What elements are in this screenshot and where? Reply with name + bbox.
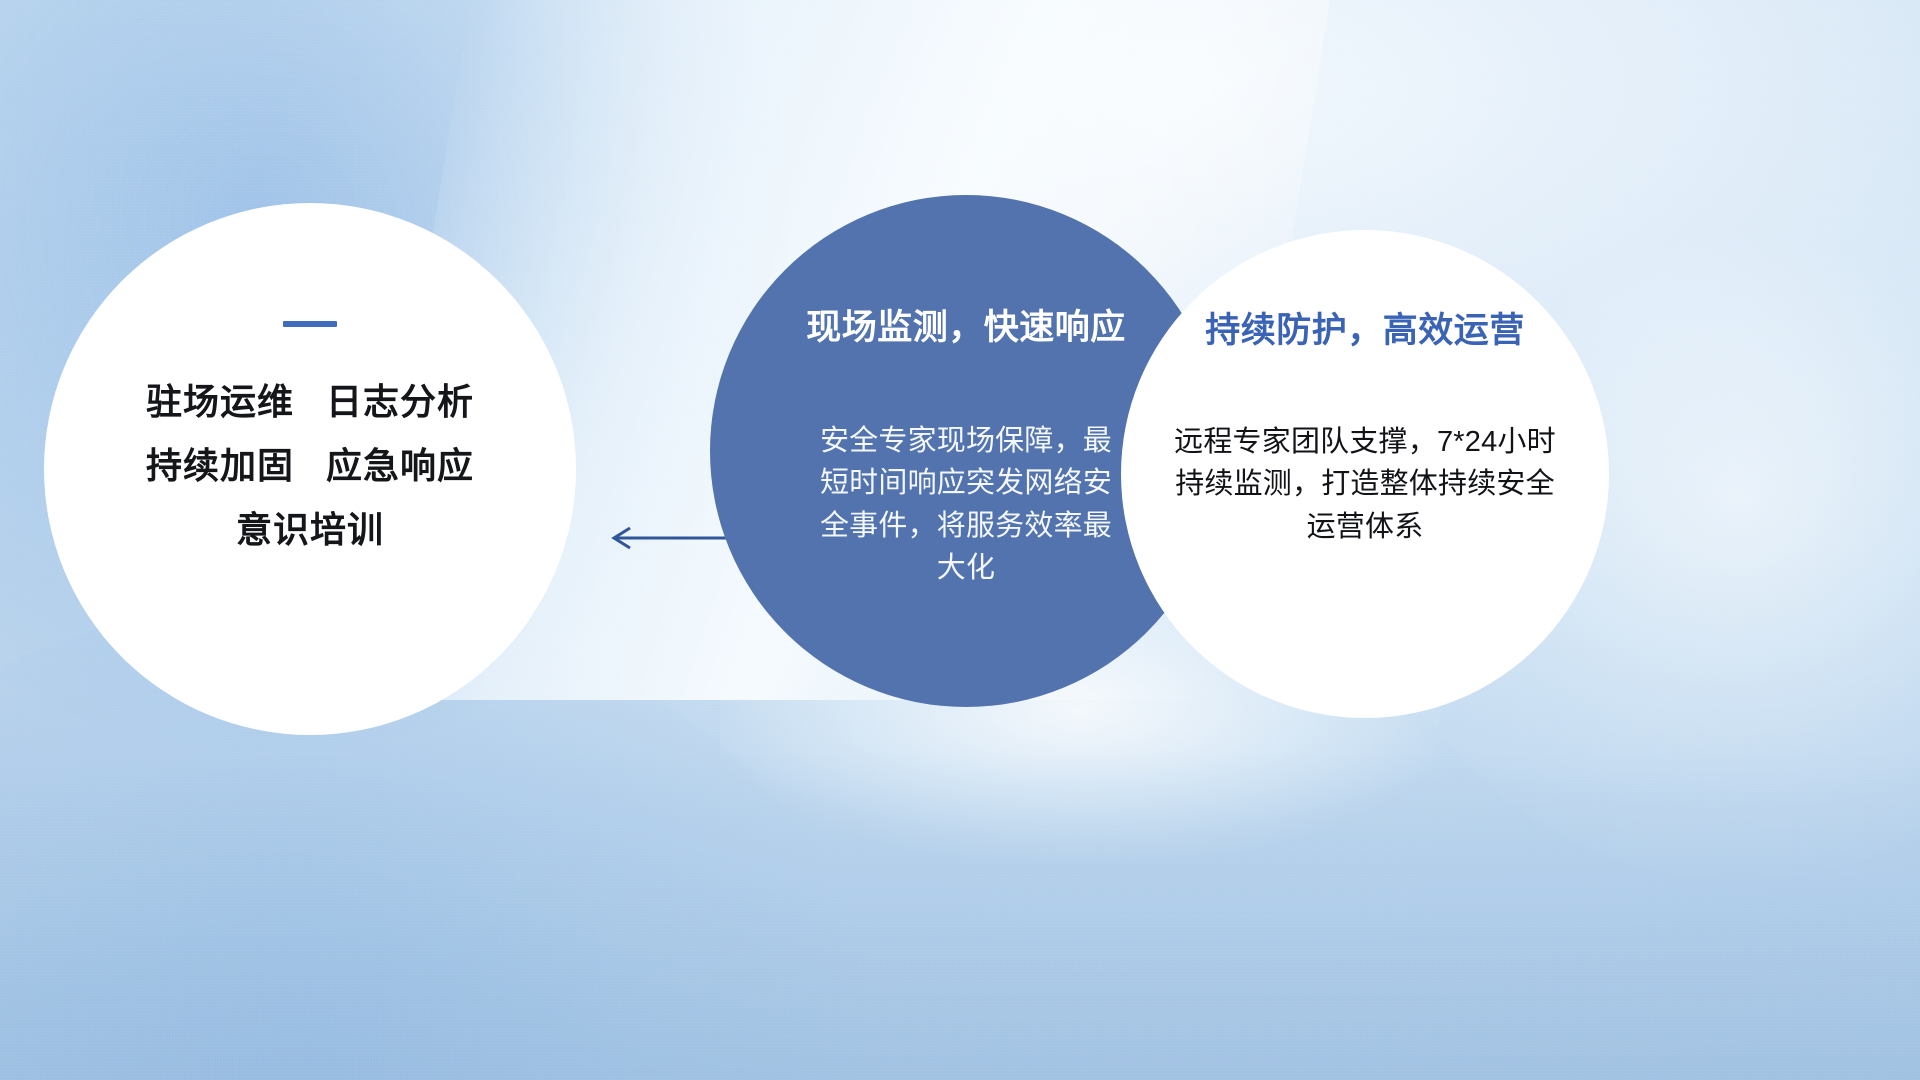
capability-tag: 应急响应 <box>326 447 474 485</box>
capability-tag-row: 驻场运维 日志分析 <box>146 383 474 421</box>
capability-tag-list: 驻场运维 日志分析 持续加固 应急响应 意识培训 <box>44 383 576 548</box>
capability-tag: 持续加固 <box>146 447 294 485</box>
capability-tag: 意识培训 <box>236 511 384 549</box>
center-circle-heading: 现场监测，快速响应 <box>806 299 1126 350</box>
right-continuous-protection-circle: 持续防护，高效运营 远程专家团队支撑，7*24小时持续监测，打造整体持续安全运营… <box>1121 230 1609 718</box>
capability-tag-row: 意识培训 <box>236 511 384 549</box>
right-circle-body: 远程专家团队支撑，7*24小时持续监测，打造整体持续安全运营体系 <box>1170 421 1560 548</box>
capability-tag-row: 持续加固 应急响应 <box>146 447 474 485</box>
center-circle-body: 安全专家现场保障，最短时间响应突发网络安全事件，将服务效率最大化 <box>818 420 1114 589</box>
left-capability-circle: 驻场运维 日志分析 持续加固 应急响应 意识培训 <box>44 203 576 735</box>
slide-canvas: 驻场运维 日志分析 持续加固 应急响应 意识培训 现场监测，快速响应 安全专家现… <box>0 0 1920 1080</box>
right-circle-heading: 持续防护，高效运营 <box>1205 302 1525 353</box>
accent-dash-icon <box>283 321 337 327</box>
capability-tag: 驻场运维 <box>146 383 294 421</box>
capability-tag: 日志分析 <box>326 383 474 421</box>
